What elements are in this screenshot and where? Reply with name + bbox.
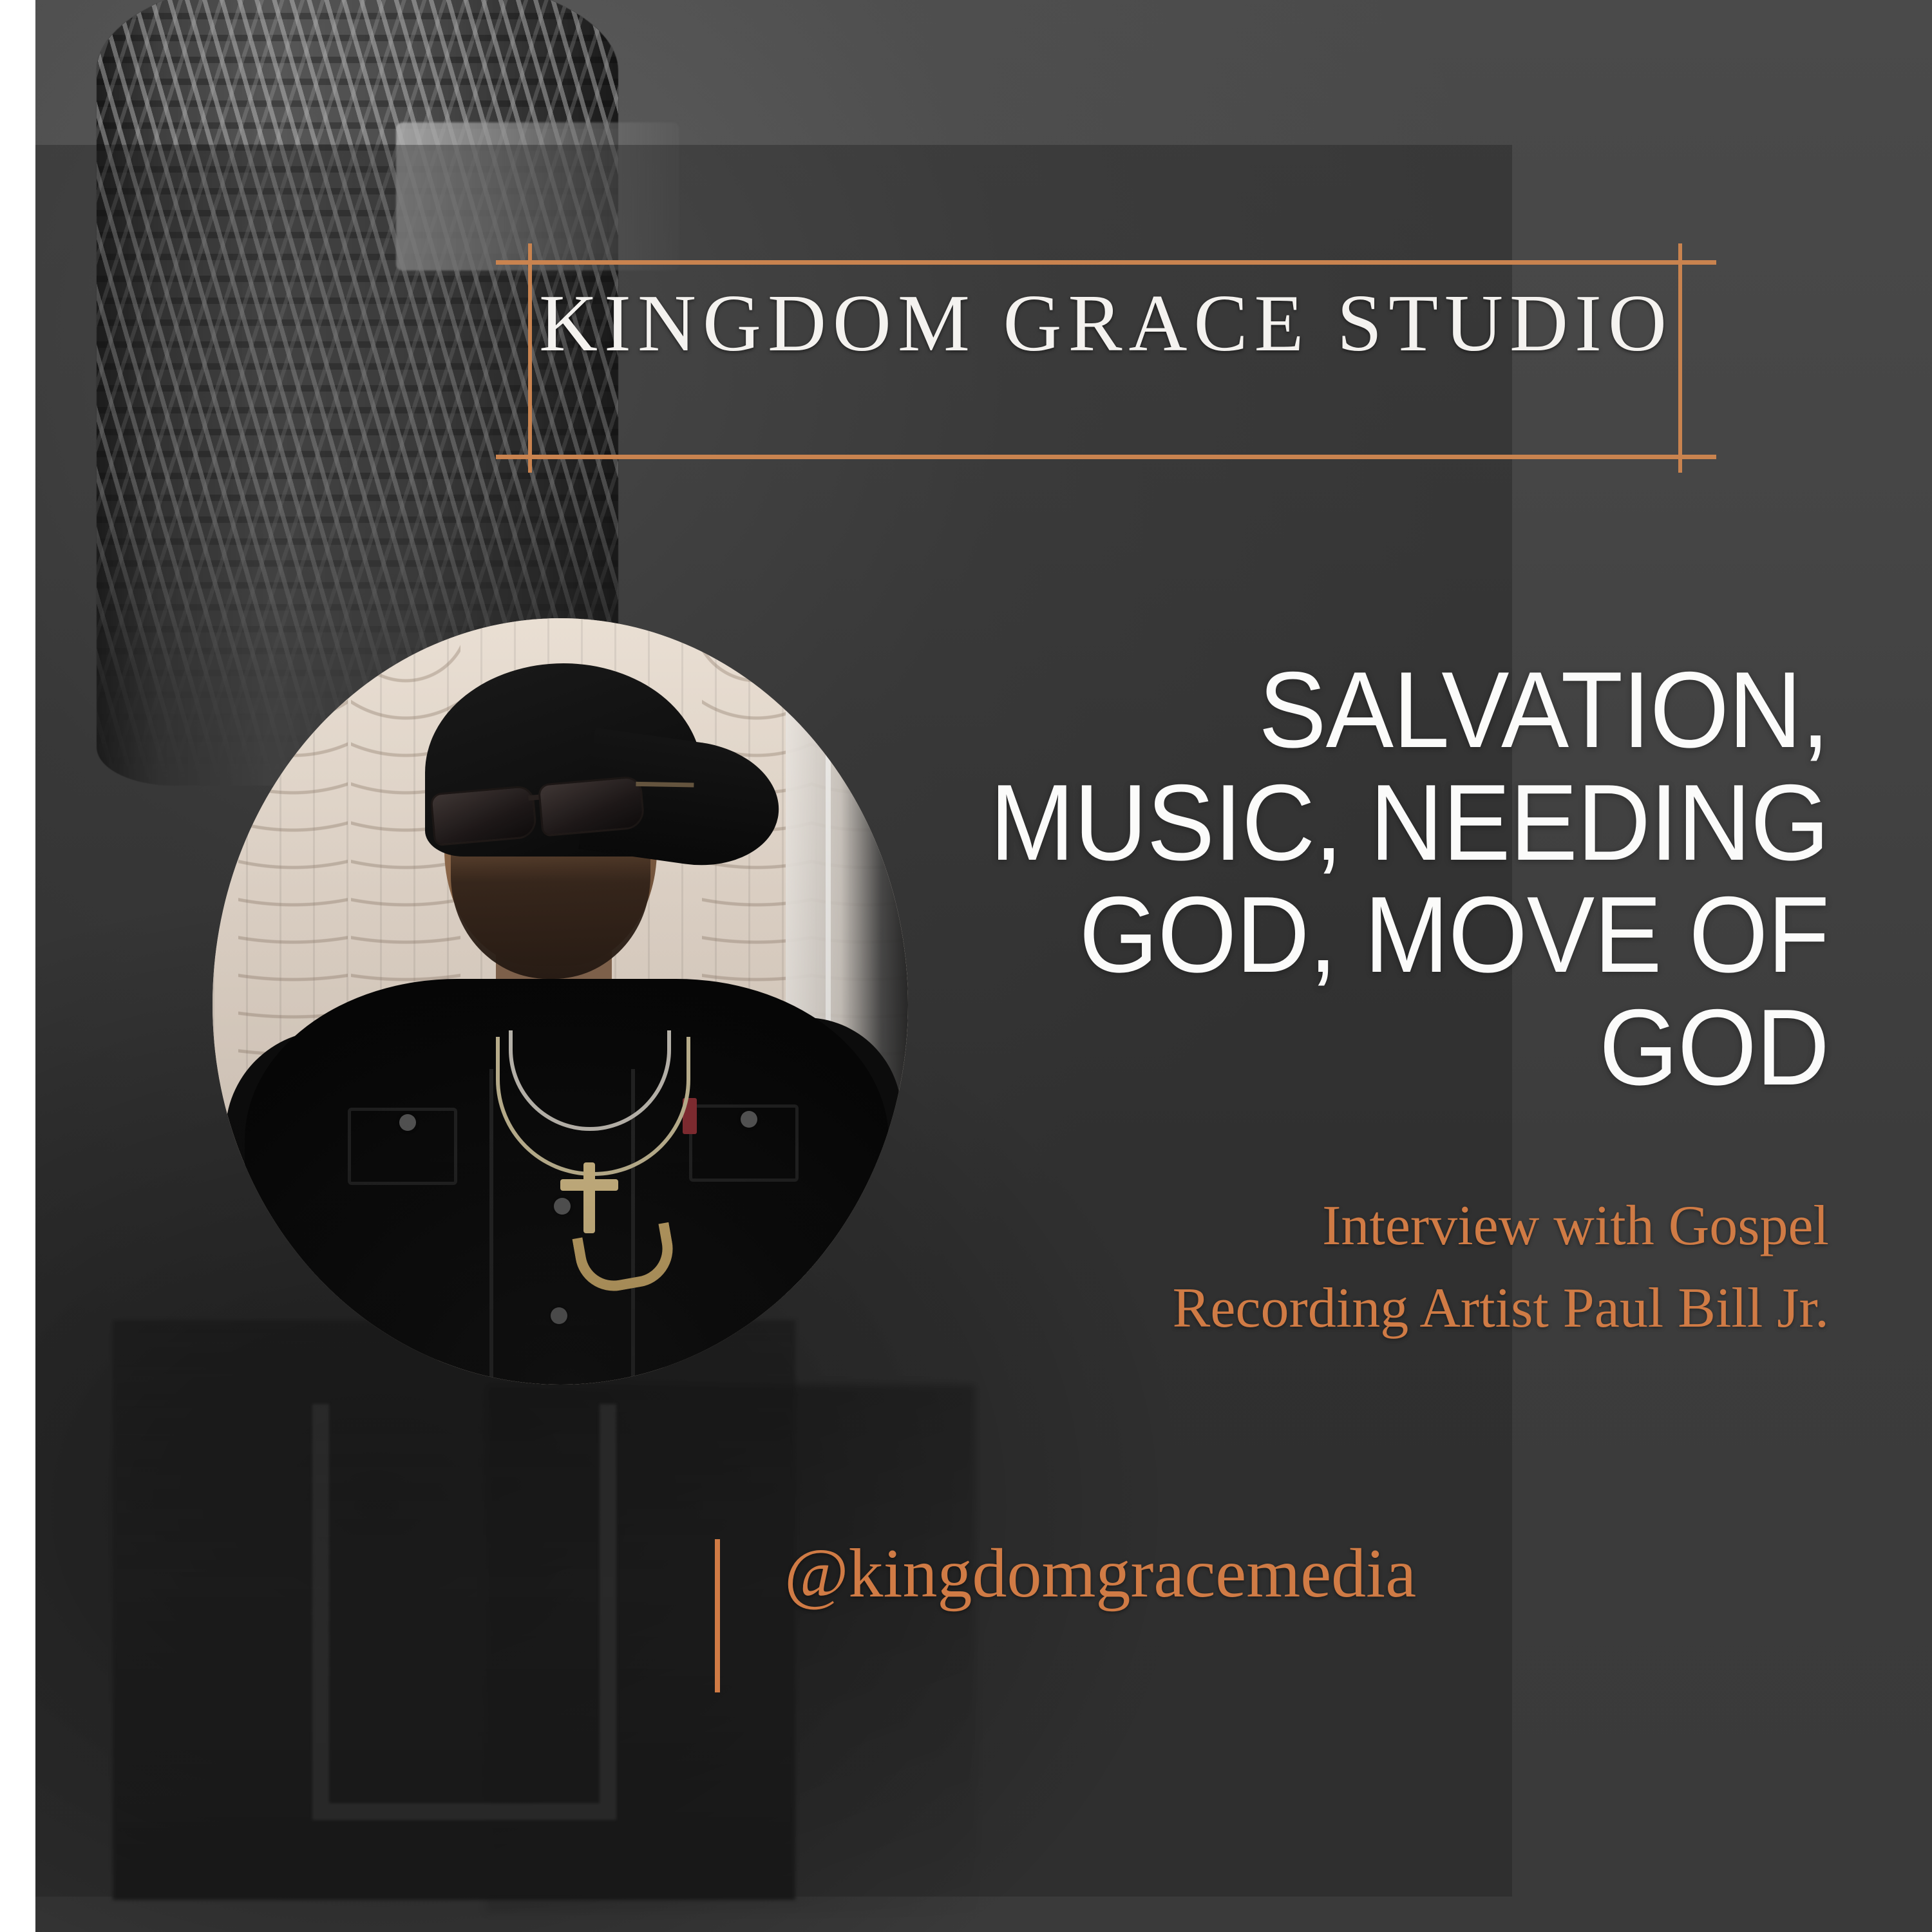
studio-name: KINGDOM GRACE STUDIO [496,283,1716,365]
handle-accent-bar [715,1539,720,1692]
subtitle-line-1: Interview with Gospel [927,1185,1829,1267]
artist-portrait [213,618,908,1385]
subtitle-line-2: Recording Artist Paul Bill Jr. [927,1267,1829,1350]
headline-line-3: GOD, MOVE OF [812,878,1829,991]
promo-poster: KINGDOM GRACE STUDIO SALVATION, MUSIC, N… [0,0,1932,1932]
subtitle: Interview with Gospel Recording Artist P… [927,1185,1829,1349]
page-title: SALVATION, MUSIC, NEEDING GOD, MOVE OF G… [812,654,1829,1104]
headline-line-2: MUSIC, NEEDING [812,766,1829,879]
headline-line-1: SALVATION, [812,654,1829,766]
portrait-tone-wash [213,618,908,1385]
handle-text: @kingdomgracemedia [784,1539,1416,1609]
social-handle: @kingdomgracemedia [715,1539,1416,1694]
headline-line-4: GOD [812,991,1829,1104]
